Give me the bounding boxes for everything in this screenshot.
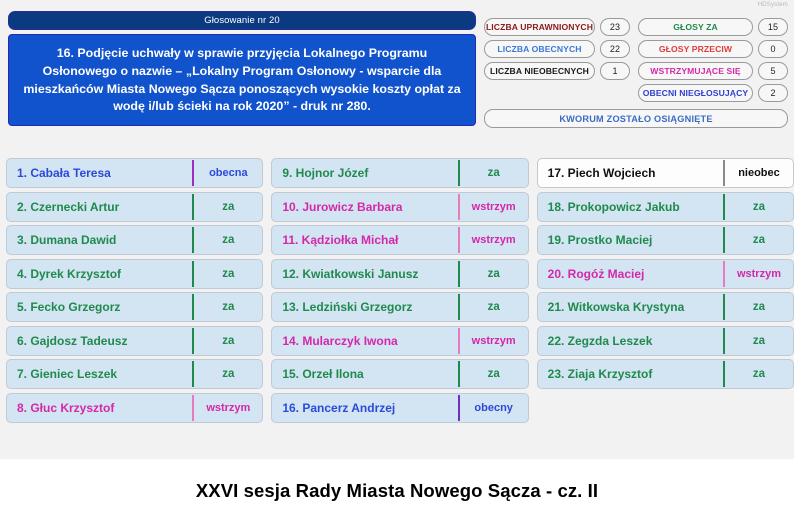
vote-statistics: LICZBA UPRAWNIONYCH23LICZBA OBECNYCH22LI… (484, 18, 788, 128)
voter-name: 13. Ledziński Grzegorz (272, 293, 457, 321)
quorum-status-badge: KWORUM ZOSTAŁO OSIĄGNIĘTE (484, 109, 788, 128)
results-panel: HDSystem Głosowanie nr 20 16. Podjęcie u… (0, 0, 794, 459)
vote-value: wstrzym (194, 394, 262, 422)
vote-value: za (460, 360, 528, 388)
stat-value: 15 (758, 18, 788, 36)
vote-value: za (725, 360, 793, 388)
vote-value: za (725, 327, 793, 355)
voter-name: 4. Dyrek Krzysztof (7, 260, 192, 288)
voter-name: 6. Gajdosz Tadeusz (7, 327, 192, 355)
voter-name: 14. Mularczyk Iwona (272, 327, 457, 355)
voter-name: 7. Gieniec Leszek (7, 360, 192, 388)
voter-row: 14. Mularczyk Iwonawstrzym (271, 326, 528, 356)
voter-row: 15. Orzeł Ilonaza (271, 359, 528, 389)
vote-tally-stats: GŁOSY ZA15GŁOSY PRZECIW0WSTRZYMUJĄCE SIĘ… (638, 18, 788, 102)
vote-value: za (194, 226, 262, 254)
voter-row: 19. Prostko Maciejza (537, 225, 794, 255)
voter-name: 11. Kądziołka Michał (272, 226, 457, 254)
hdsystem-watermark: HDSystem (758, 2, 788, 8)
voter-row: 17. Piech Wojciechnieobec (537, 158, 794, 188)
vote-value: za (194, 327, 262, 355)
vote-value: za (460, 293, 528, 321)
vote-value: za (194, 360, 262, 388)
vote-value: wstrzym (460, 193, 528, 221)
vote-value: obecny (460, 394, 528, 422)
stat-row: WSTRZYMUJĄCE SIĘ5 (638, 62, 788, 80)
voter-row: 1. Cabała Teresaobecna (6, 158, 263, 188)
voter-name: 8. Głuc Krzysztof (7, 394, 192, 422)
voter-row: 21. Witkowska Krystynaza (537, 292, 794, 322)
vote-description: 16. Podjęcie uchwały w sprawie przyjęcia… (8, 34, 476, 126)
voter-row: 18. Prokopowicz Jakubza (537, 192, 794, 222)
stat-row: GŁOSY PRZECIW0 (638, 40, 788, 58)
vote-value: wstrzym (460, 327, 528, 355)
vote-value: nieobec (725, 159, 793, 187)
voter-name: 22. Zegzda Leszek (538, 327, 723, 355)
stat-row: LICZBA OBECNYCH22 (484, 40, 630, 58)
voter-row: 5. Fecko Grzegorzza (6, 292, 263, 322)
vote-number-bar: Głosowanie nr 20 (8, 11, 476, 30)
voter-row: 22. Zegzda Leszekza (537, 326, 794, 356)
voter-list: 1. Cabała Teresaobecna2. Czernecki Artur… (0, 158, 794, 423)
voter-name: 5. Fecko Grzegorz (7, 293, 192, 321)
voter-name: 3. Dumana Dawid (7, 226, 192, 254)
voter-row: 9. Hojnor Józefza (271, 158, 528, 188)
vote-value: za (725, 293, 793, 321)
voter-name: 15. Orzeł Ilona (272, 360, 457, 388)
stat-value: 23 (600, 18, 630, 36)
voter-name: 19. Prostko Maciej (538, 226, 723, 254)
voter-name: 12. Kwiatkowski Janusz (272, 260, 457, 288)
voter-row: 2. Czernecki Arturza (6, 192, 263, 222)
vote-value: za (194, 193, 262, 221)
voter-name: 10. Jurowicz Barbara (272, 193, 457, 221)
stat-row: LICZBA NIEOBECNYCH1 (484, 62, 630, 80)
voter-row: 12. Kwiatkowski Januszza (271, 259, 528, 289)
voter-row: 10. Jurowicz Barbarawstrzym (271, 192, 528, 222)
vote-value: za (460, 260, 528, 288)
stat-row: GŁOSY ZA15 (638, 18, 788, 36)
vote-value: za (725, 193, 793, 221)
voter-name: 18. Prokopowicz Jakub (538, 193, 723, 221)
voter-row: 11. Kądziołka Michałwstrzym (271, 225, 528, 255)
voter-name: 21. Witkowska Krystyna (538, 293, 723, 321)
vote-value: za (194, 260, 262, 288)
voter-row: 3. Dumana Dawidza (6, 225, 263, 255)
voter-row: 8. Głuc Krzysztofwstrzym (6, 393, 263, 423)
stat-label: WSTRZYMUJĄCE SIĘ (638, 62, 753, 80)
stat-row: LICZBA UPRAWNIONYCH23 (484, 18, 630, 36)
session-footer: XXVI sesja Rady Miasta Nowego Sącza - cz… (0, 459, 794, 522)
vote-value: wstrzym (725, 260, 793, 288)
stat-label: LICZBA NIEOBECNYCH (484, 62, 595, 80)
voter-name: 16. Pancerz Andrzej (272, 394, 457, 422)
stat-label: LICZBA UPRAWNIONYCH (484, 18, 595, 36)
voter-row: 13. Ledziński Grzegorzza (271, 292, 528, 322)
vote-value: za (194, 293, 262, 321)
session-title: XXVI sesja Rady Miasta Nowego Sącza - cz… (196, 480, 598, 502)
vote-value: za (725, 226, 793, 254)
voter-row: 6. Gajdosz Tadeuszza (6, 326, 263, 356)
voter-name: 2. Czernecki Artur (7, 193, 192, 221)
voter-row: 4. Dyrek Krzysztofza (6, 259, 263, 289)
vote-header: Głosowanie nr 20 16. Podjęcie uchwały w … (8, 11, 476, 126)
voter-column-2: 9. Hojnor Józefza10. Jurowicz Barbarawst… (271, 158, 528, 423)
voter-name: 23. Ziaja Krzysztof (538, 360, 723, 388)
stat-value: 1 (600, 62, 630, 80)
voter-row: 23. Ziaja Krzysztofza (537, 359, 794, 389)
voter-name: 20. Rogóż Maciej (538, 260, 723, 288)
stat-value: 5 (758, 62, 788, 80)
stat-label: GŁOSY ZA (638, 18, 753, 36)
voter-row: 16. Pancerz Andrzejobecny (271, 393, 528, 423)
voter-name: 1. Cabała Teresa (7, 159, 192, 187)
vote-value: za (460, 159, 528, 187)
stat-row: OBECNI NIEGŁOSUJĄCY2 (638, 84, 788, 102)
voter-column-3: 17. Piech Wojciechnieobec18. Prokopowicz… (537, 158, 794, 423)
voter-name: 9. Hojnor Józef (272, 159, 457, 187)
stat-label: OBECNI NIEGŁOSUJĄCY (638, 84, 753, 102)
voter-row: 7. Gieniec Leszekza (6, 359, 263, 389)
voting-display-screen: HDSystem Głosowanie nr 20 16. Podjęcie u… (0, 0, 794, 522)
voter-name: 17. Piech Wojciech (538, 159, 723, 187)
attendance-stats: LICZBA UPRAWNIONYCH23LICZBA OBECNYCH22LI… (484, 18, 630, 102)
stat-value: 22 (600, 40, 630, 58)
stat-value: 0 (758, 40, 788, 58)
voter-row: 20. Rogóż Maciejwstrzym (537, 259, 794, 289)
stat-label: GŁOSY PRZECIW (638, 40, 753, 58)
stat-value: 2 (758, 84, 788, 102)
voter-column-1: 1. Cabała Teresaobecna2. Czernecki Artur… (6, 158, 263, 423)
vote-value: obecna (194, 159, 262, 187)
vote-value: wstrzym (460, 226, 528, 254)
stat-label: LICZBA OBECNYCH (484, 40, 595, 58)
